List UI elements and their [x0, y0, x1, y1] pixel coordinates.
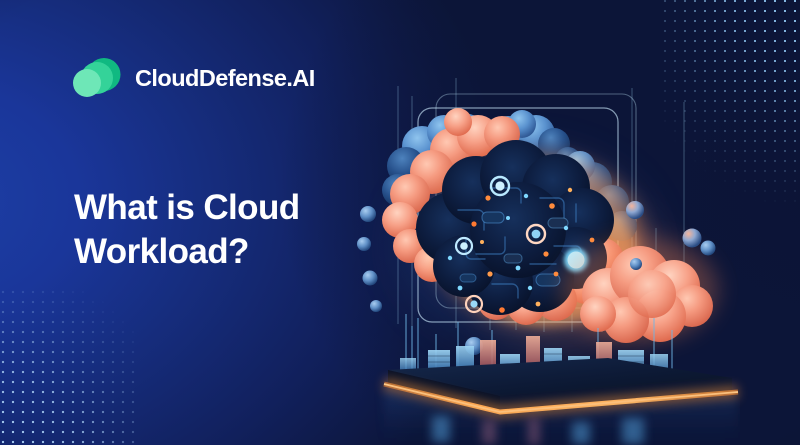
headline-line-1: What is Cloud	[74, 188, 300, 227]
brand-name: CloudDefense.AI	[135, 65, 315, 92]
banner-root: CloudDefense.AI What is Cloud Workload?	[0, 0, 800, 445]
headline-line-2: Workload?	[74, 232, 249, 271]
illustration-canvas	[340, 78, 740, 445]
floating-spheres-left	[357, 206, 382, 312]
cloud-circles-logo-icon	[72, 57, 122, 100]
cloud-workload-3d-illustration	[340, 78, 740, 445]
brand-logo-lockup[interactable]: CloudDefense.AI	[72, 57, 315, 100]
page-title: What is Cloud Workload?	[74, 186, 374, 274]
